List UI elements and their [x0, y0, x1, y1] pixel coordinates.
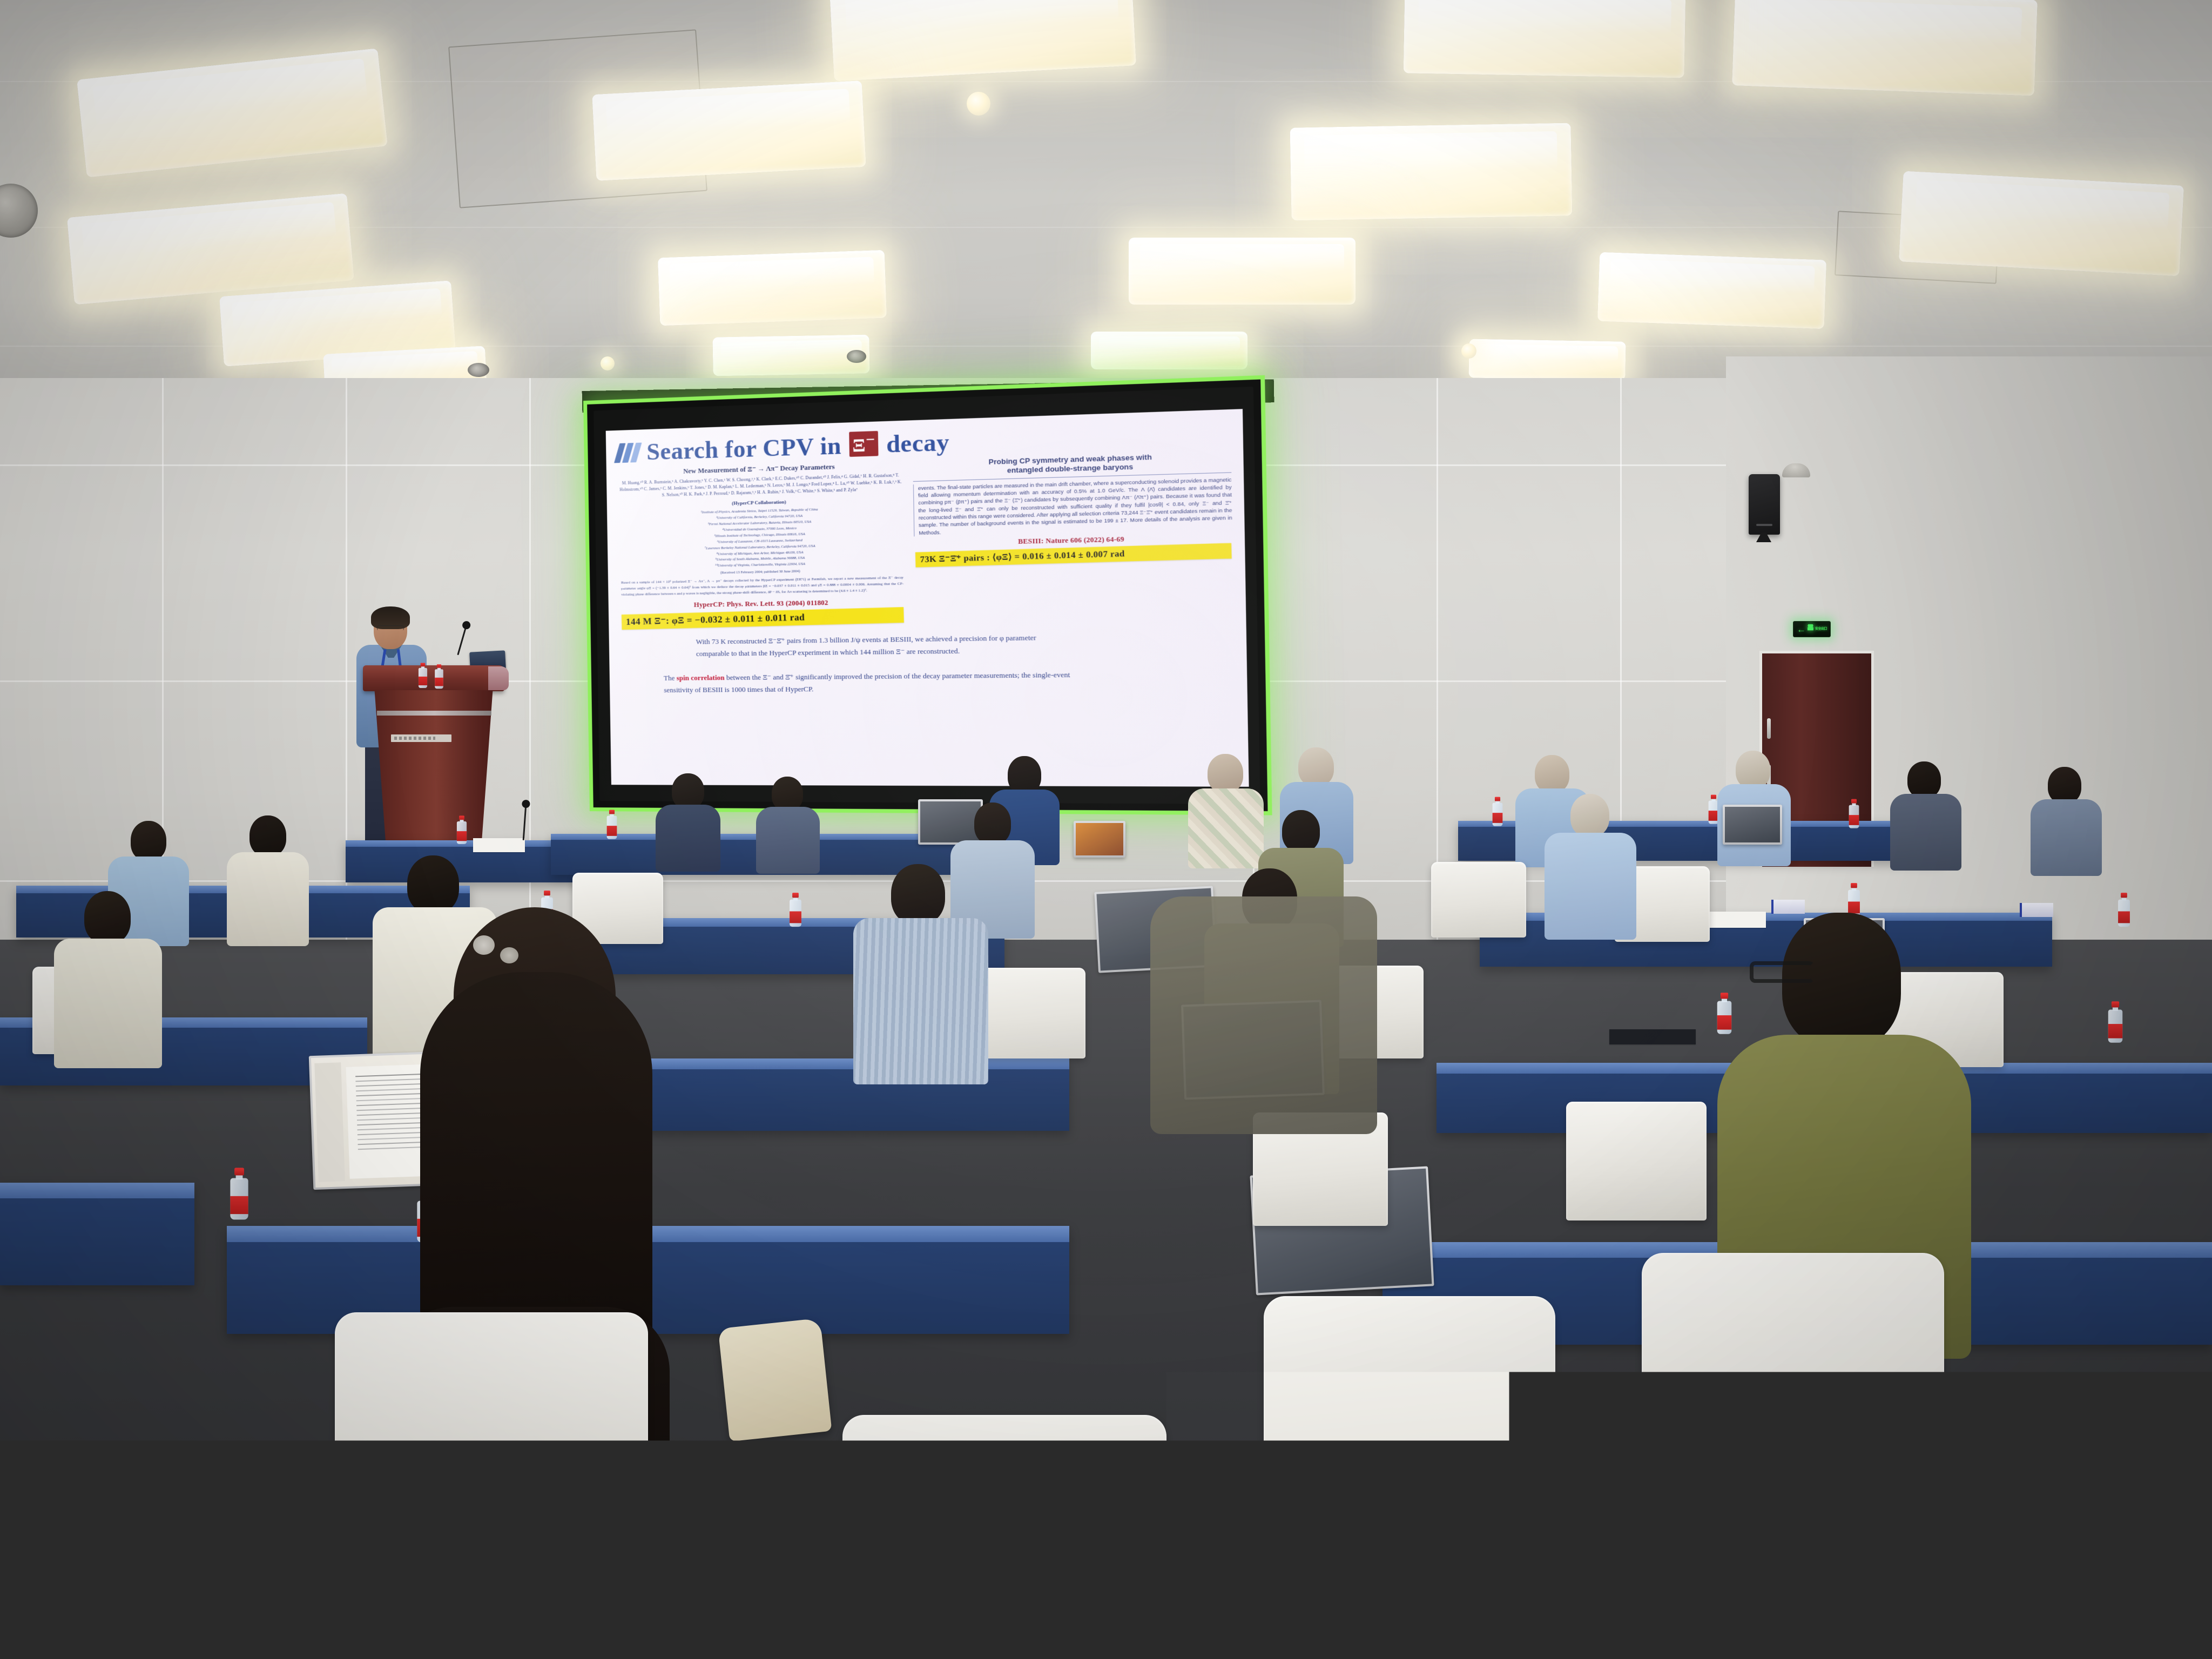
water-bottle[interactable]	[1849, 799, 1859, 828]
audience-table	[0, 1183, 194, 1285]
water-bottle[interactable]	[230, 1169, 248, 1220]
ceiling-downlight	[601, 356, 615, 370]
chair[interactable]	[842, 1415, 1166, 1659]
smoke-detector-icon	[468, 363, 489, 377]
chair[interactable]	[972, 968, 1085, 1058]
exit-sign-label: 安全出口	[1815, 628, 1827, 631]
ceiling-light	[829, 0, 1136, 82]
name-tent-card	[1771, 900, 1805, 914]
audience-member	[1890, 761, 1961, 869]
hair-clip	[500, 947, 518, 963]
highlight-hypercp-result: 144 M Ξ⁻: φΞ = −0.032 ± 0.011 ± 0.011 ra…	[622, 607, 905, 630]
ceiling-speaker-icon	[0, 184, 38, 238]
slide-paragraph-comparison: With 73 K reconstructed Ξ⁻Ξ̄⁺ pairs from…	[696, 632, 1060, 660]
nature-abstract: events. The final-state particles are me…	[913, 475, 1232, 536]
chair[interactable]	[1431, 862, 1526, 938]
slide-right-column: Probing CP symmetry and weak phases with…	[913, 450, 1234, 624]
audience-member	[756, 777, 820, 874]
podium	[363, 665, 504, 866]
ceiling-light	[77, 48, 388, 178]
exit-arrow-icon: ←	[1797, 625, 1806, 634]
ceiling-light	[1597, 252, 1826, 329]
water-bottle[interactable]	[1493, 797, 1503, 826]
chair[interactable]	[1264, 1296, 1555, 1659]
ceiling-light	[1404, 0, 1686, 78]
hair-clip	[473, 935, 495, 955]
chair[interactable]	[1642, 1253, 1944, 1659]
ceiling-light	[658, 250, 887, 326]
ceiling-downlight	[967, 92, 990, 116]
ceiling-light	[1129, 238, 1355, 305]
name-tent-card	[2020, 903, 2053, 917]
ceiling-light	[1091, 332, 1247, 369]
laptop[interactable]	[1074, 821, 1125, 858]
ceiling-downlight	[1461, 343, 1476, 359]
coat-on-chair	[1150, 896, 1377, 1134]
running-man-icon	[1808, 624, 1813, 634]
glasses-icon	[377, 625, 404, 631]
slide-logo-icon	[614, 442, 642, 463]
water-bottle[interactable]	[607, 810, 617, 839]
audience-member	[853, 864, 988, 1080]
slide-content: Search for CPV in Ξ− decay New Measureme…	[606, 409, 1249, 787]
xi-particle-icon: Ξ−	[849, 431, 878, 457]
podium-nameplate	[391, 734, 451, 742]
glasses-icon	[1750, 961, 1815, 983]
presentation-screen[interactable]: Search for CPV in Ξ− decay New Measureme…	[586, 401, 1228, 811]
water-bottle[interactable]	[457, 816, 467, 844]
water-bottle[interactable]	[790, 893, 801, 927]
audience-member	[227, 815, 309, 945]
ceiling-light	[1290, 123, 1573, 220]
spin-correlation-emphasis: spin correlation	[677, 673, 725, 682]
water-bottle[interactable]	[435, 665, 443, 689]
ceiling-light	[1732, 0, 2038, 96]
prl-affiliations: ¹Institute of Physics, Academia Sinica, …	[618, 505, 906, 571]
wall-speaker-icon	[1749, 474, 1780, 535]
laptop[interactable]	[1723, 805, 1782, 845]
audience-member	[2031, 767, 2102, 875]
audience-member	[1188, 754, 1264, 867]
chair[interactable]	[1566, 1102, 1707, 1220]
water-bottle[interactable]	[2118, 893, 2130, 927]
ceiling-light	[592, 80, 866, 181]
water-bottle[interactable]	[419, 663, 427, 688]
ceiling-light	[1899, 171, 2184, 276]
prl-abstract: Based on a sample of 144 × 10⁶ polarized…	[619, 575, 906, 598]
audience-member	[656, 773, 720, 871]
water-bottle[interactable]	[2108, 1002, 2123, 1042]
slide-left-column: New Measurement of Ξ⁻ → Λπ⁻ Decay Parame…	[617, 460, 907, 628]
bag	[718, 1318, 832, 1442]
audience-member	[54, 891, 162, 1064]
slide-paragraph-spin: The spin correlation between the Ξ⁻ and …	[664, 669, 1096, 696]
audience-member	[1545, 794, 1636, 939]
ceiling-light	[1468, 339, 1626, 380]
conference-room-scene: ← 安全出口 Search for CPV in Ξ− decay	[0, 0, 2212, 1659]
water-bottle[interactable]	[1848, 884, 1860, 917]
ceiling	[0, 0, 2212, 410]
door-handle[interactable]	[1767, 718, 1771, 739]
emergency-exit-sign: ← 安全出口	[1793, 621, 1831, 637]
smoke-detector-icon	[847, 350, 866, 363]
chair[interactable]	[335, 1312, 648, 1659]
ceiling-light	[67, 193, 354, 305]
tablet-device[interactable]	[1609, 1029, 1696, 1044]
ceiling-light	[712, 334, 869, 376]
paper-sheet	[473, 838, 525, 852]
